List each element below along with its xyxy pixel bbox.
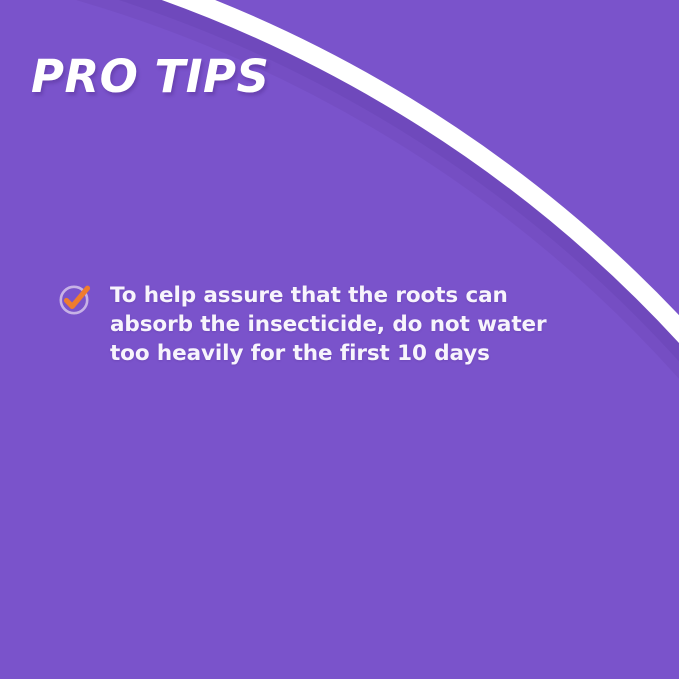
check-mark-path xyxy=(67,288,88,306)
tip-text: To help assure that the roots can absorb… xyxy=(110,281,578,368)
pro-tips-card: PRO TIPS To help assure that the roots c… xyxy=(0,0,679,679)
tip-list-item: To help assure that the roots can absorb… xyxy=(58,281,578,368)
check-circle-icon xyxy=(58,282,92,316)
page-title: PRO TIPS xyxy=(31,54,269,99)
